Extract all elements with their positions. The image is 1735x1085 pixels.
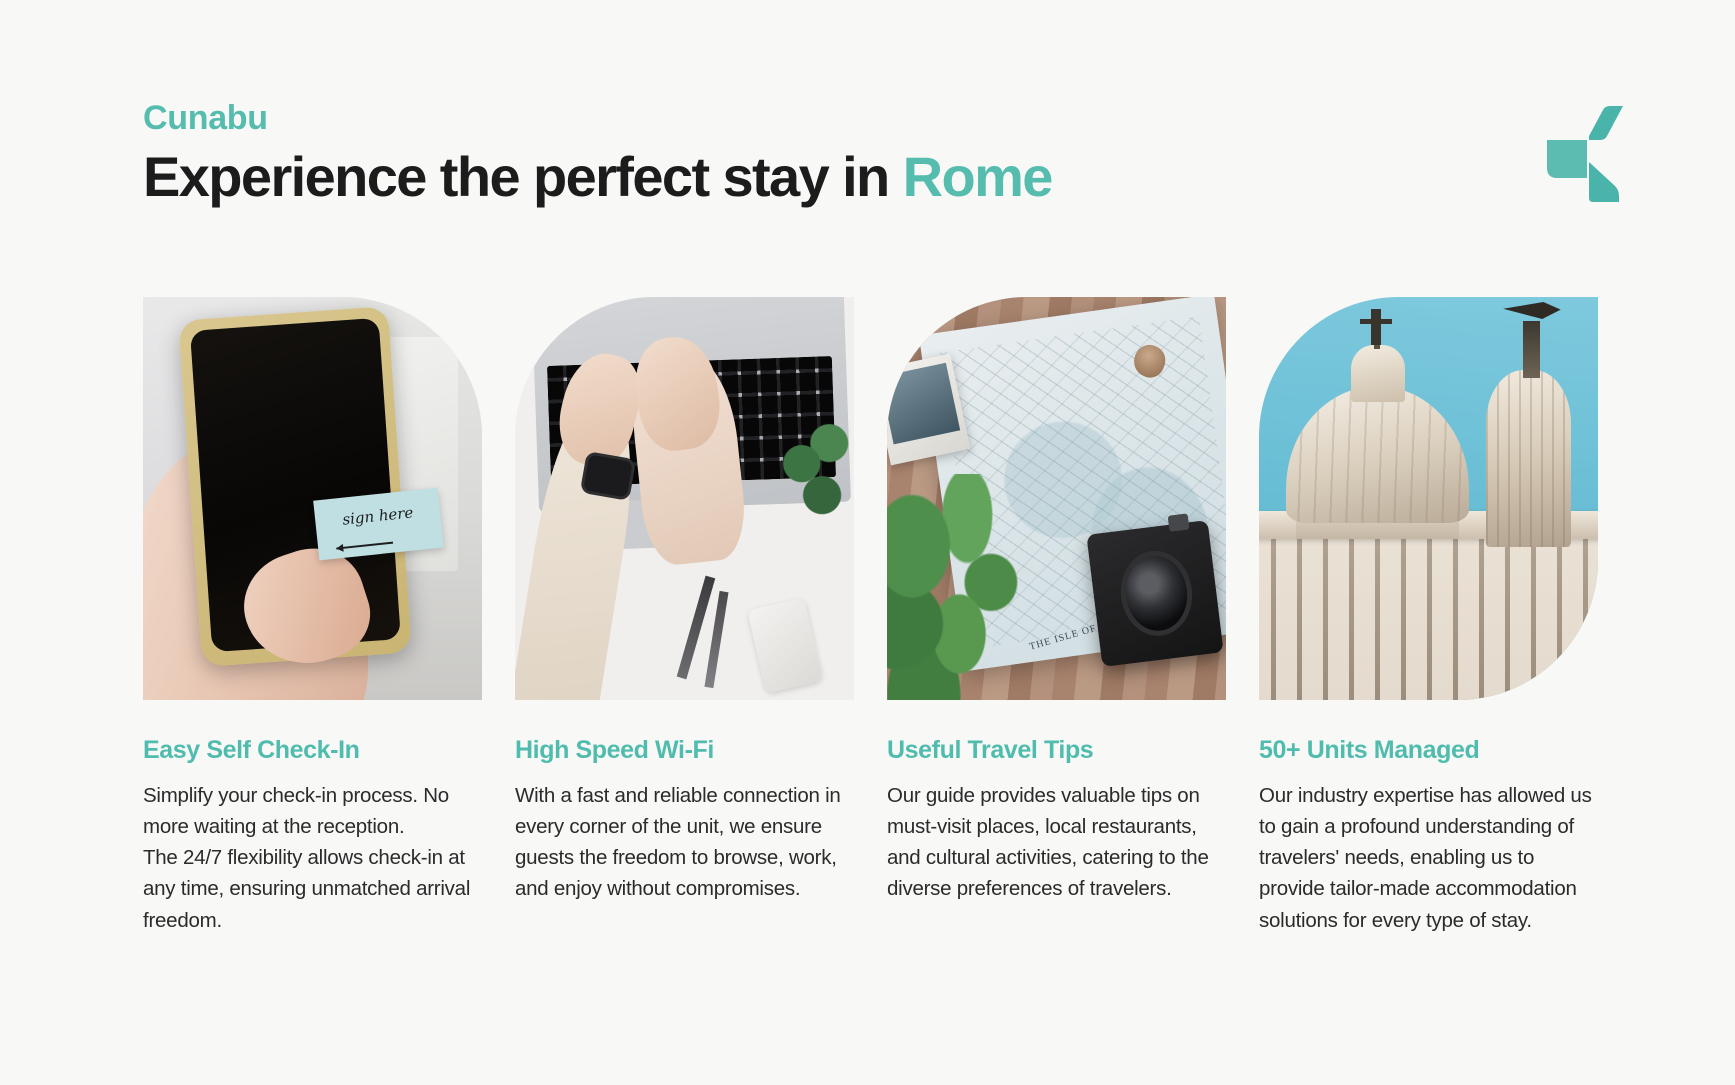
photo-illustration: [515, 297, 854, 700]
card-title: High Speed Wi-Fi: [515, 735, 854, 765]
page-title: Experience the perfect stay in Rome: [143, 145, 1593, 209]
photo-illustration: THE ISLE OF: [887, 297, 1226, 700]
cunabu-k-logo-icon: [1535, 100, 1627, 208]
card-image-hand-holding-phone: sign here: [143, 297, 482, 700]
card-image-travel-map-camera: THE ISLE OF: [887, 297, 1226, 700]
feature-card-useful-travel-tips: THE ISLE OF Useful Travel Tips Our guide…: [887, 297, 1226, 936]
photo-illustration: sign here: [143, 297, 482, 700]
headline-accent-city: Rome: [903, 145, 1052, 208]
card-title: Useful Travel Tips: [887, 735, 1226, 765]
card-body: Our guide provides valuable tips on must…: [887, 780, 1226, 905]
card-image-rome-church-domes: [1259, 297, 1598, 700]
feature-card-easy-self-check-in: sign here Easy Self Check-In Simplify yo…: [143, 297, 482, 936]
card-body: Simplify your check-in process. No more …: [143, 780, 482, 936]
headline-prefix: Experience the perfect stay in: [143, 145, 889, 208]
card-image-hands-typing-laptop: [515, 297, 854, 700]
photo-illustration: [1259, 297, 1598, 700]
brand-name: Cunabu: [143, 100, 1593, 137]
feature-card-high-speed-wifi: High Speed Wi-Fi With a fast and reliabl…: [515, 297, 854, 936]
card-title: 50+ Units Managed: [1259, 735, 1598, 765]
feature-cards-row: sign here Easy Self Check-In Simplify yo…: [143, 297, 1599, 936]
vintage-camera-icon: [1086, 520, 1223, 667]
card-body: Our industry expertise has allowed us to…: [1259, 780, 1598, 936]
slide-canvas: Cunabu Experience the perfect stay in Ro…: [0, 0, 1735, 1085]
card-body: With a fast and reliable connection in e…: [515, 780, 854, 905]
arrow-icon: [336, 542, 394, 550]
sign-here-label: sign here: [314, 501, 441, 532]
feature-card-50-units-managed: 50+ Units Managed Our industry expertise…: [1259, 297, 1598, 936]
slide-header: Cunabu Experience the perfect stay in Ro…: [143, 100, 1593, 210]
card-title: Easy Self Check-In: [143, 735, 482, 765]
